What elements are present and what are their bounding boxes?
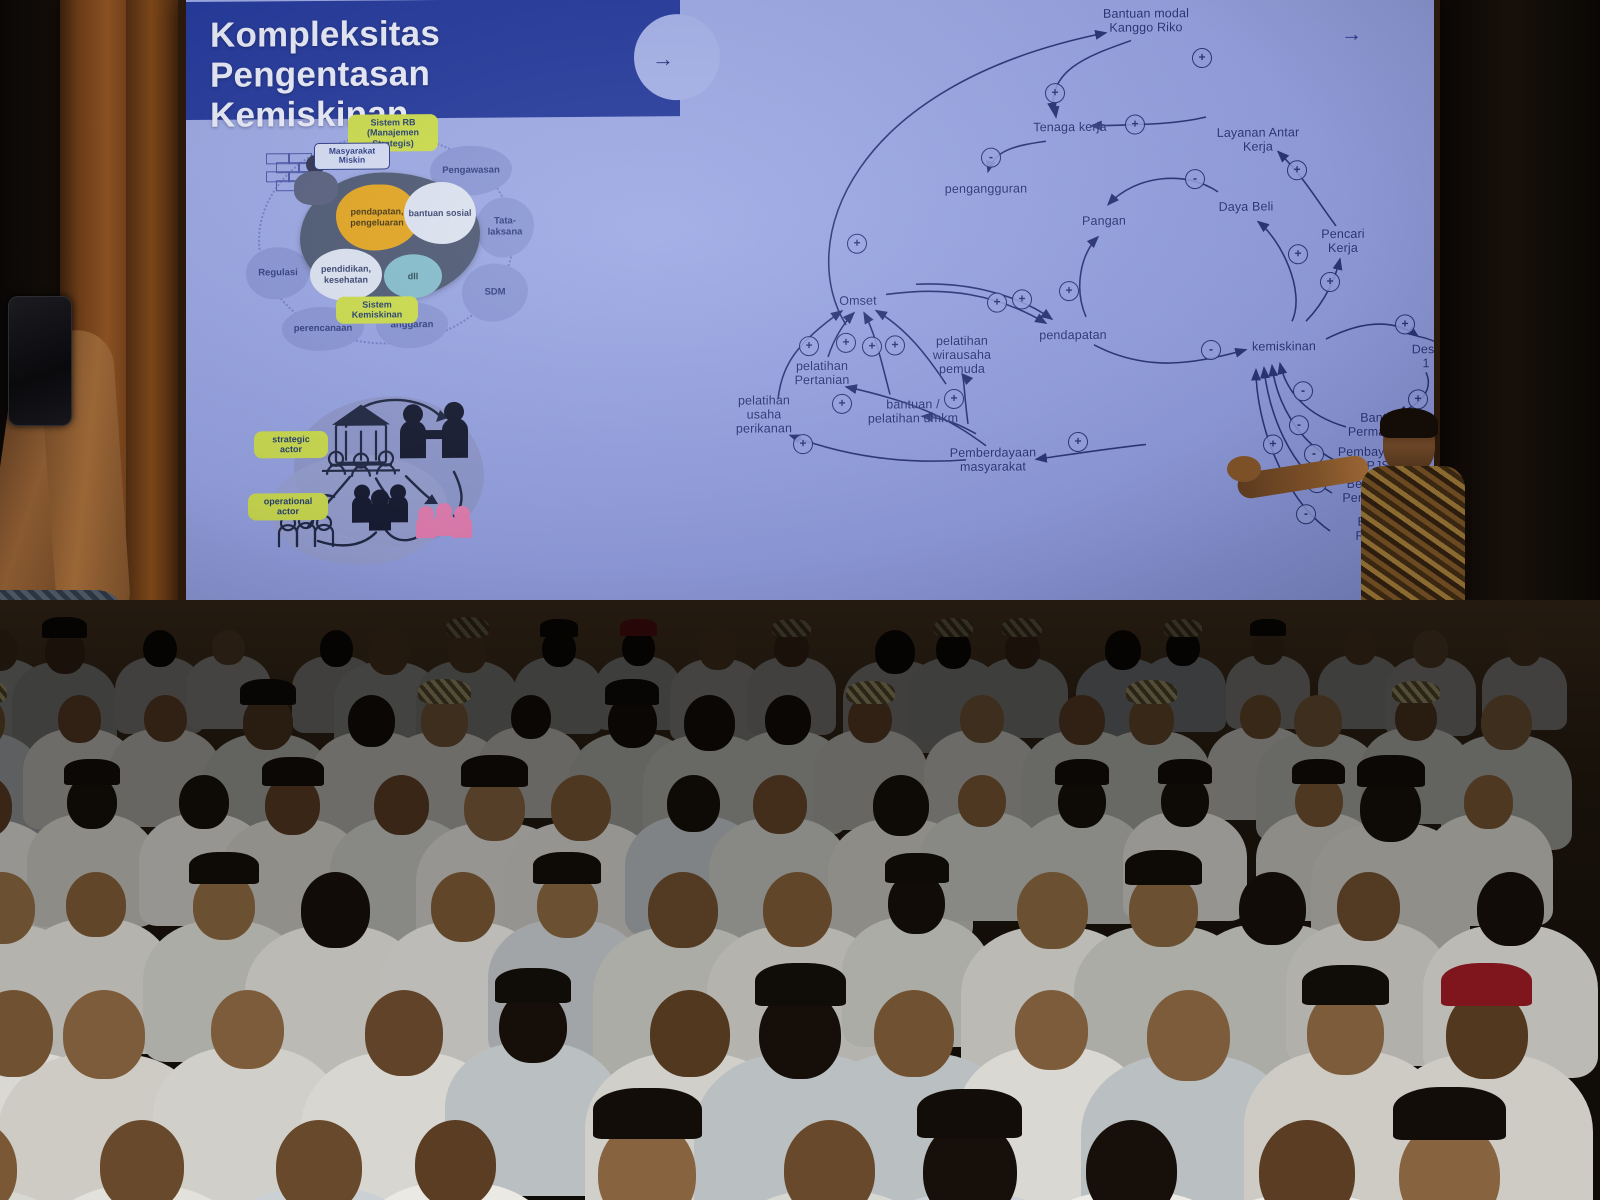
polarity-marker-minus: - [1185,169,1205,189]
polarity-marker-minus: - [1293,381,1313,401]
presenter-hair [1380,408,1438,438]
polarity-marker-plus: + [832,394,852,414]
tag-strategic-actor: strategic actor [254,431,328,458]
audience-udeng-headwear [418,679,471,704]
cld-node-pengangguran: pengangguran [945,181,1027,196]
audience-member-head [63,990,145,1079]
polarity-marker-plus: + [1045,83,1065,103]
audience-member-head [667,775,720,832]
polarity-marker-plus: + [862,337,882,357]
audience-peci-cap [64,759,120,785]
screenshot-root: Kompleksitas Pengentasan Kemiskinan → → … [0,0,1600,1200]
polarity-marker-plus: + [987,293,1007,313]
audience-member-head [415,1120,496,1200]
audience-member-head [58,695,102,743]
audience-peci-cap [42,617,87,638]
polarity-marker-plus: + [1192,48,1212,68]
polarity-marker-minus: - [1201,340,1221,360]
cld-node-tenaga_kerja: Tenaga kerja [1033,120,1106,135]
audience-member-head [958,775,1006,827]
smartphone [8,296,72,426]
audience-member-head [1239,872,1306,945]
polarity-marker-plus: + [1395,314,1415,334]
core-item-bantuan-sosial: bantuan sosial [404,182,476,245]
polarity-marker-plus: + [793,434,813,454]
audience-member-head [1147,990,1230,1081]
core-item-dll: dll [384,254,442,298]
cld-node-desil_1: Desil 1 [1412,342,1434,370]
polarity-marker-plus: + [1059,281,1079,301]
audience-member-head [684,695,735,751]
title-line-1: Kompleksitas Pengentasan [210,14,440,95]
audience-peci-cap [755,963,847,1006]
polarity-marker-plus: + [847,234,867,254]
polarity-marker-plus: + [836,333,856,353]
audience-member-head [551,775,611,841]
audience-member-head [873,775,929,836]
audience-member-head [1508,630,1541,666]
audience-member-head [763,872,832,947]
audience-member-head [1477,872,1544,946]
audience-member-head [211,990,284,1069]
projected-slide: Kompleksitas Pengentasan Kemiskinan → → … [186,0,1434,618]
audience-member-head [320,630,354,667]
audience-peci-cap [495,968,570,1003]
audience-peci-cap [593,1088,703,1139]
audience-peci-cap [1250,619,1286,636]
person-body-icon [294,171,338,205]
audience-member-head [1337,872,1400,941]
cld-node-pelatihan_wirausaha: pelatihan wirausaha pemuda [933,334,991,376]
audience-peci-cap [1357,755,1425,787]
audience-member-head [1240,695,1281,739]
blob-sdm: SDM [462,263,528,322]
audience-peci-cap [1302,965,1389,1006]
audience-peci-cap [540,619,578,637]
illustration-actors: strategic actor operational actor [258,379,508,576]
audience-member-head [1105,630,1141,670]
audience-peci-cap [1055,759,1110,785]
audience-member-head [143,630,177,667]
cld-node-bantuan_modal: Bantuan modal Kanggo Riko [1103,6,1189,35]
audience-member-head [511,695,551,739]
audience-member-head [875,630,915,674]
blob-tatalaksana: Tata- laksana [476,197,534,257]
audience-member-head [1464,775,1513,829]
polarity-marker-minus: - [1296,504,1316,524]
audience-member-head [1344,630,1376,665]
audience-peci-cap [885,853,949,883]
audience-udeng-headwear [1002,618,1042,637]
polarity-marker-plus: + [1320,272,1340,292]
audience-member-head [960,695,1004,743]
audience-member-head [66,872,125,937]
audience-member-head [1413,630,1448,668]
audience-udeng-headwear [772,619,810,637]
cld-node-daya_beli: Daya Beli [1219,199,1274,213]
audience-udeng-headwear [1164,619,1201,636]
audience-peci-cap [1125,850,1202,886]
audience-member-head [1017,872,1087,949]
polarity-marker-plus: + [1287,160,1307,180]
polarity-marker-plus: + [1068,432,1088,452]
audience-member-head [699,630,736,670]
audience-peci-cap [1441,963,1532,1006]
audience-member-head [144,695,187,742]
audience-udeng-headwear [846,681,895,704]
cld-node-pemberdayaan: Pemberdayaan masyarakat [950,445,1037,474]
polarity-marker-plus: + [799,336,819,356]
tag-operational-actor: operational actor [248,493,328,520]
causal-loop-diagram: +++-+-++++++++++-++++-----+++++ Bantuan … [546,0,1434,615]
tag-sistem-kemiskinan: Sistem Kemiskinan [336,296,418,323]
audience-member-head [1015,990,1088,1070]
actor-connectors [258,379,508,576]
audience-member-head [368,630,409,675]
audience-udeng-headwear [446,617,490,638]
polarity-marker-plus: + [885,335,905,355]
audience-member-head [753,775,807,834]
audience-member-head [1059,695,1105,745]
audience-peci-cap [1158,759,1211,784]
audience-peci-cap [461,755,529,787]
audience-member-head [431,872,495,942]
audience-peci-cap [533,852,601,884]
audience-member-head [374,775,429,835]
cld-node-kemiskinan: kemiskinan [1252,339,1316,354]
audience-member-head [648,872,718,948]
audience-peci-cap [240,679,296,705]
audience-member-head [179,775,228,829]
audience-peci-cap [189,852,259,885]
audience-udeng-headwear [934,618,974,636]
polarity-marker-plus: + [1125,114,1145,134]
audience-peci-cap [605,679,659,704]
audience-member-head [874,990,954,1077]
audience-member-head [365,990,444,1076]
cld-node-pendapatan: pendapatan [1039,328,1107,343]
polarity-marker-minus: - [1289,415,1309,435]
illustration-poverty-system: Pengawasan Tata- laksana SDM anggaran pe… [252,119,532,351]
audience-peci-cap [620,619,657,636]
cld-node-pangan: Pangan [1082,214,1126,228]
audience-member-head [765,695,811,745]
cld-node-pelatihan_perikanan: pelatihan usaha perikanan [736,393,792,435]
polarity-marker-minus: - [981,148,1001,168]
tag-masyarakat-miskin: Masyarakat Miskin [314,142,390,169]
audience-peci-cap [262,757,324,786]
audience-udeng-headwear [1392,681,1439,703]
polarity-marker-plus: + [1263,434,1283,454]
audience-peci-cap [917,1089,1022,1138]
audience-member-head [1294,695,1342,747]
audience-peci-cap [1292,759,1346,784]
cld-node-layanan_antar_kerja: Layanan Antar Kerja [1217,125,1300,154]
polarity-marker-plus: + [1012,289,1032,309]
cld-node-omset: Omset [839,294,877,308]
audience [0,600,1600,1200]
polarity-marker-plus: + [1408,389,1428,409]
audience-peci-cap [1393,1087,1506,1140]
cld-node-pelatihan_pertanian: pelatihan Pertanian [795,359,850,387]
cld-node-pencari_kerja: Pencari Kerja [1321,227,1364,255]
presenter-hand [1227,456,1261,482]
audience-member-head [212,630,244,665]
polarity-marker-plus: + [1288,244,1308,264]
cld-node-bantuan_umkm: bantuan / pelatihan umkm [868,397,958,426]
audience-member-head [348,695,395,747]
audience-udeng-headwear [1126,680,1177,704]
audience-member-head [301,872,370,948]
audience-member-head [1481,695,1532,750]
audience-member-head [650,990,730,1077]
